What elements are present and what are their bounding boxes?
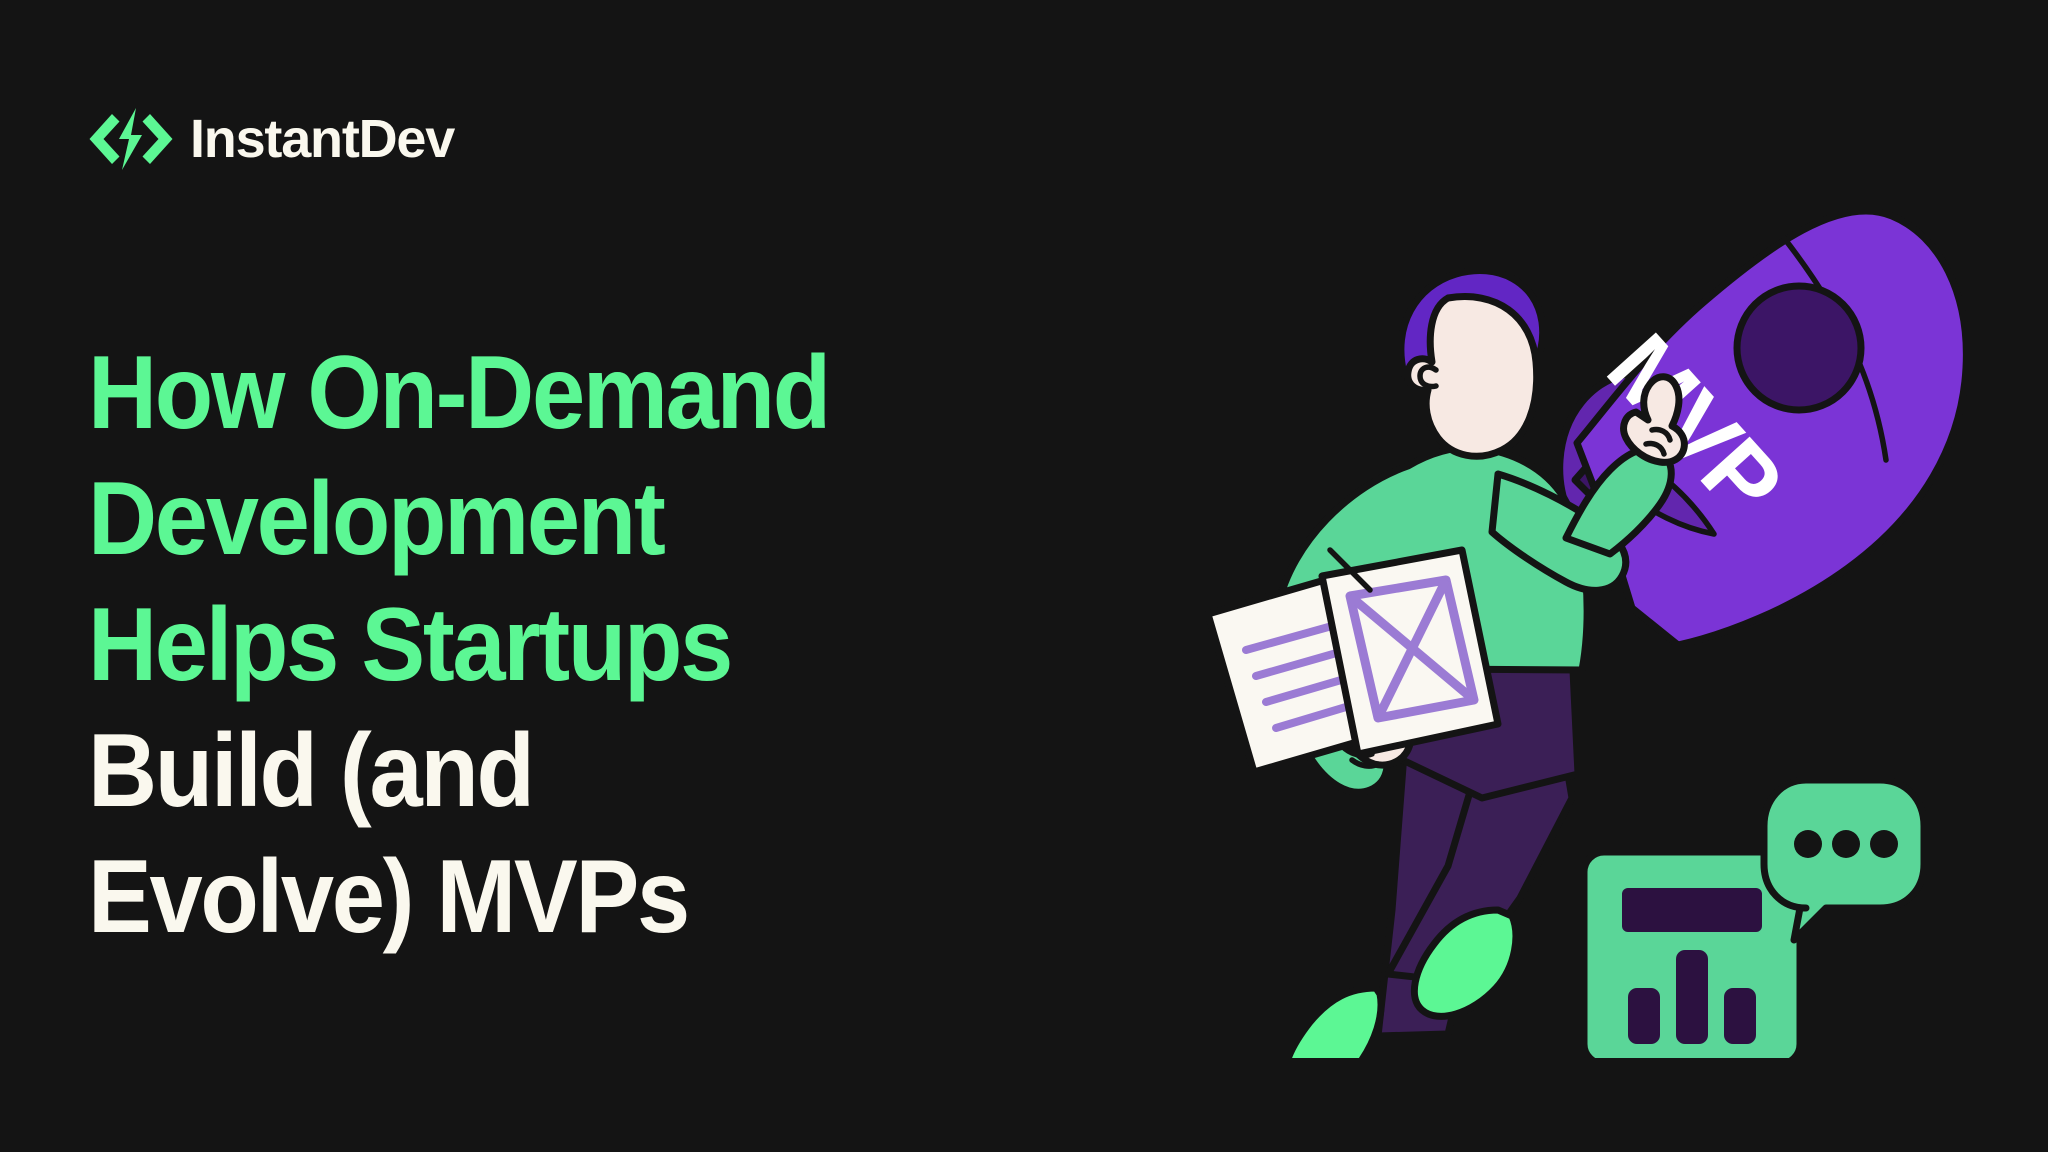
brand-name: InstantDev [190,112,454,166]
headline-line-3: Helps Startups [88,582,1063,708]
brand-logo[interactable]: InstantDev [88,108,454,170]
code-brackets-lightning-icon [88,108,174,170]
headline-line-4: Build (and [88,708,1063,834]
startup-mvp-rocket-illustration: .stk { stroke:#141414; stroke-width:7; s… [1180,198,2020,1058]
page-title: How On-Demand Development Helps Startups… [88,330,1148,960]
headline-line-5: Evolve) MVPs [88,834,1063,960]
banner-canvas: InstantDev How On-Demand Development Hel… [0,0,2048,1152]
headline-line-2: Development [88,456,1063,582]
headline-line-1: How On-Demand [88,330,1063,456]
